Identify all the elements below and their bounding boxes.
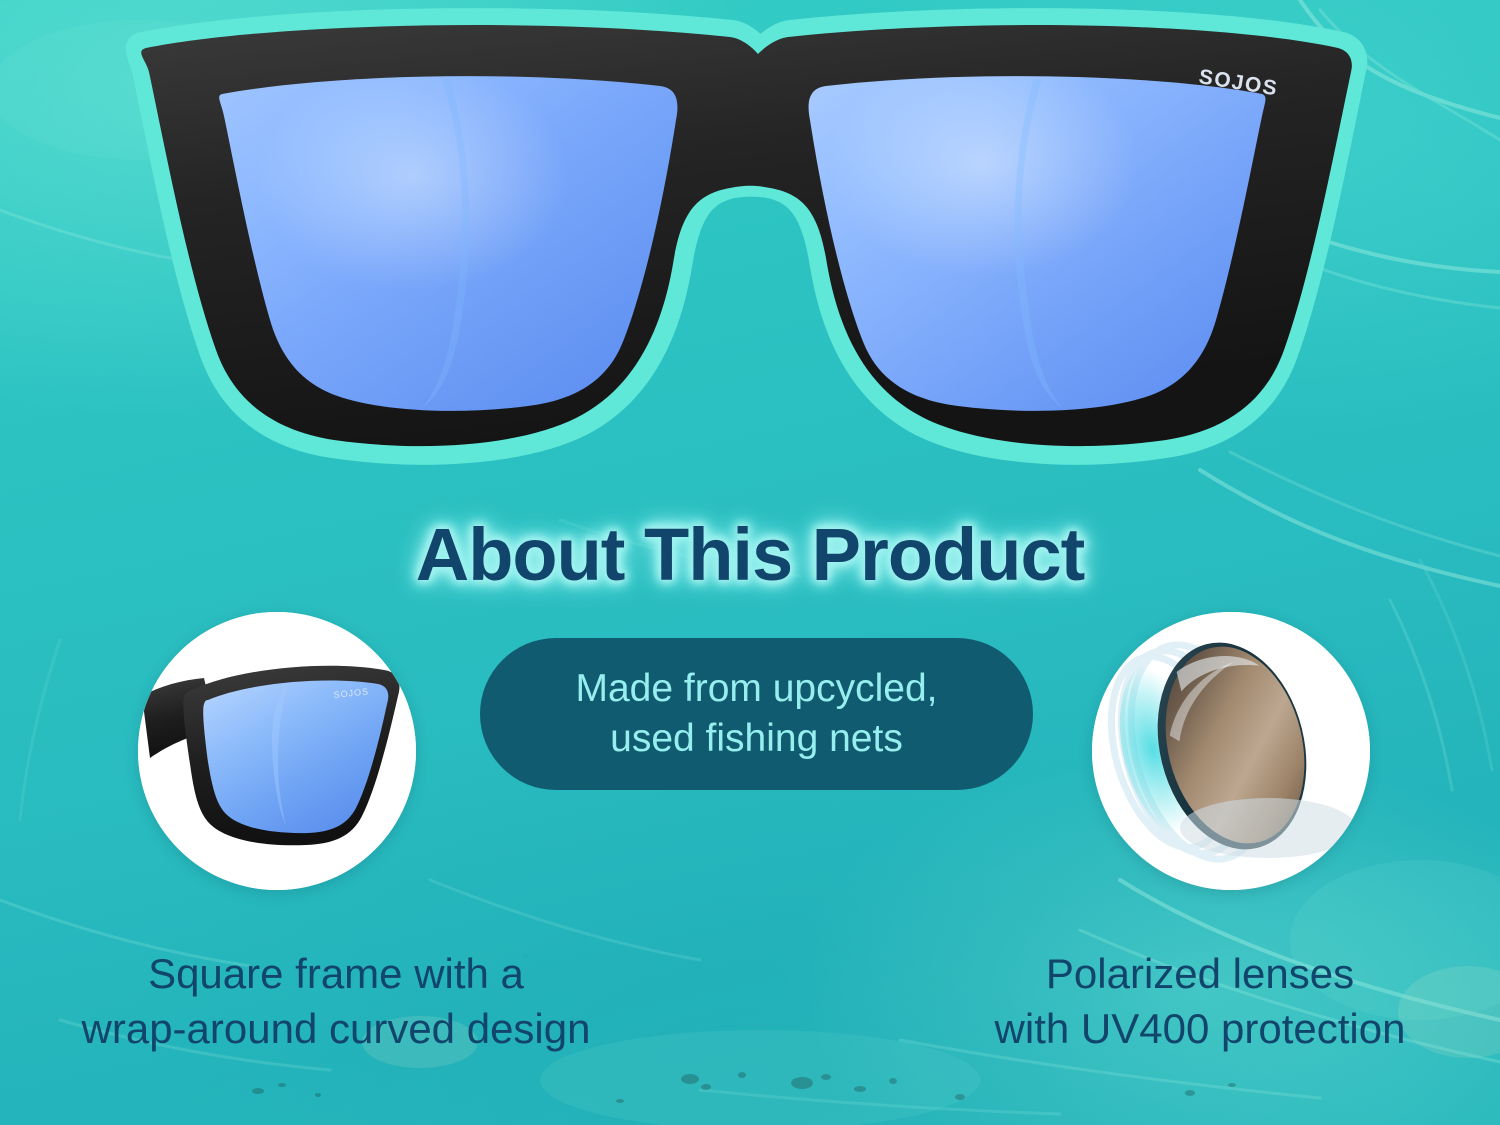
badge-line-2: used fishing nets [610,714,903,764]
caption-right-line-2: with UV400 protection [900,1001,1500,1056]
caption-left-line-1: Square frame with a [0,946,672,1001]
feature-caption-polarized-lens: Polarized lenses with UV400 protection [900,946,1500,1057]
page-title: About This Product [0,512,1500,597]
caption-left-line-2: wrap-around curved design [0,1001,672,1056]
caption-right-line-1: Polarized lenses [900,946,1500,1001]
product-infographic: SOJOS About This Product Made from upcyc… [0,0,1500,1125]
sunglasses-hero-image: SOJOS [120,8,1360,488]
feature-caption-square-frame: Square frame with a wrap-around curved d… [0,946,672,1057]
upcycled-badge: Made from upcycled, used fishing nets [480,638,1033,790]
feature-inset-square-frame: SOJOS [138,612,416,890]
feature-inset-polarized-lens [1092,612,1370,890]
badge-line-1: Made from upcycled, [576,664,938,714]
